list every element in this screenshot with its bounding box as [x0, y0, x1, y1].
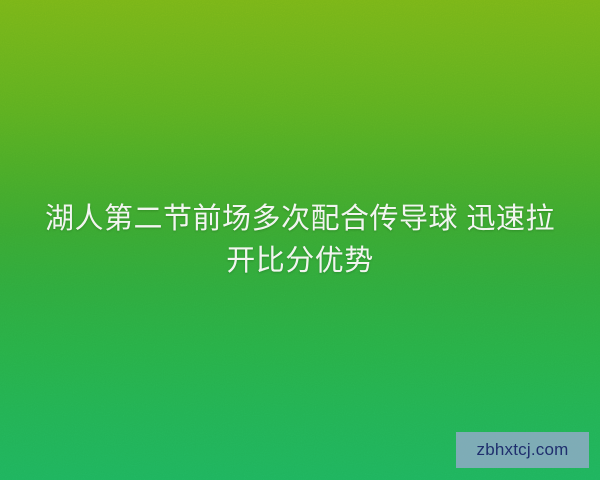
- image-canvas: 湖人第二节前场多次配合传导球 迅速拉开比分优势 zbhxtcj.com: [0, 0, 600, 480]
- watermark-badge: zbhxtcj.com: [456, 432, 589, 468]
- page-title: 湖人第二节前场多次配合传导球 迅速拉开比分优势: [0, 198, 600, 282]
- watermark-label: zbhxtcj.com: [477, 440, 569, 460]
